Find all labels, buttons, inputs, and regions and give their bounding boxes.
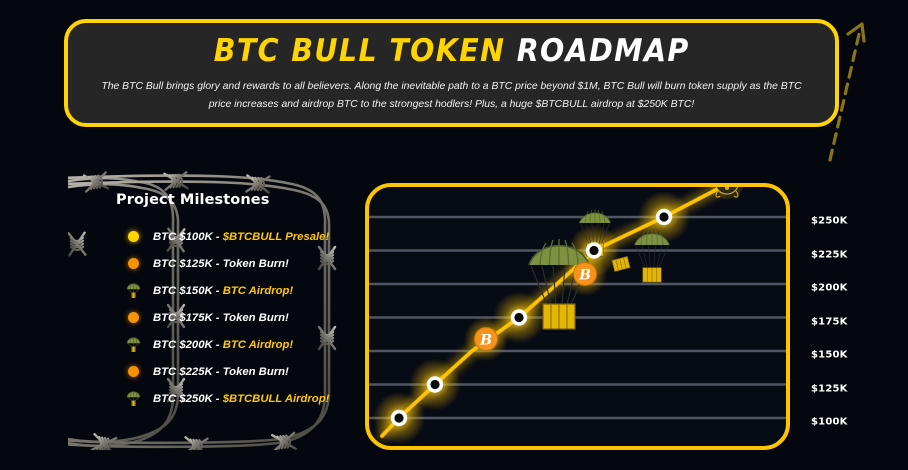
- list-item[interactable]: BTC $225K - Token Burn!: [125, 358, 331, 385]
- price-trajectory-chart: B B: [369, 187, 786, 446]
- milestones-heading: Project Milestones: [116, 192, 331, 208]
- roadmap-chart-panel: B B: [365, 183, 790, 450]
- header-panel: BTC BULL TOKEN ROADMAP The BTC Bull brin…: [64, 19, 839, 127]
- bullet-dot-icon: [125, 255, 142, 272]
- bullet-dot-icon: [125, 309, 142, 326]
- parachute-icon: [125, 336, 142, 353]
- milestone-label: BTC $225K - Token Burn!: [153, 366, 289, 378]
- bitcoin-coin-icon: B: [574, 263, 597, 286]
- bullet-dot-icon: [125, 363, 142, 380]
- milestone-price: BTC $150K -: [153, 285, 223, 297]
- milestone-event: $BTCBULL Airdrop!: [223, 393, 330, 405]
- milestone-event: $BTCBULL Presale!: [223, 231, 330, 243]
- axis-tick-200k: $200K: [811, 283, 848, 294]
- page-title: BTC BULL TOKEN ROADMAP: [214, 33, 690, 69]
- title-brand: BTC BULL TOKEN: [214, 33, 506, 69]
- bullet-dot-icon: [125, 228, 142, 245]
- title-roadmap: ROADMAP: [517, 33, 690, 69]
- header-description: The BTC Bull brings glory and rewards to…: [96, 78, 808, 112]
- milestone-label: BTC $175K - Token Burn!: [153, 312, 289, 324]
- svg-text:B: B: [578, 268, 591, 284]
- parachute-icon: [125, 282, 142, 299]
- list-item[interactable]: BTC $250K - $BTCBULL Airdrop!: [125, 385, 331, 412]
- milestone-price: BTC $250K -: [153, 393, 223, 405]
- list-item[interactable]: BTC $200K - BTC Airdrop!: [125, 331, 331, 358]
- milestone-label: BTC $200K - BTC Airdrop!: [153, 339, 293, 351]
- milestone-event: Token Burn!: [223, 312, 289, 324]
- airdrop-parachute-icon: [635, 230, 670, 282]
- milestone-price: BTC $175K -: [153, 312, 223, 324]
- list-item[interactable]: BTC $125K - Token Burn!: [125, 250, 331, 277]
- svg-text:B: B: [479, 333, 492, 349]
- milestone-price: BTC $100K -: [153, 231, 223, 243]
- milestone-event: BTC Airdrop!: [223, 285, 294, 297]
- milestone-label: BTC $100K - $BTCBULL Presale!: [153, 231, 329, 243]
- milestone-label: BTC $250K - $BTCBULL Airdrop!: [153, 393, 329, 405]
- bull-icon: [710, 187, 744, 199]
- milestone-price: BTC $200K -: [153, 339, 223, 351]
- parachute-icon: [125, 390, 142, 407]
- milestone-event: Token Burn!: [223, 258, 289, 270]
- milestone-label: BTC $125K - Token Burn!: [153, 258, 289, 270]
- milestone-event: BTC Airdrop!: [223, 339, 294, 351]
- milestone-event: Token Burn!: [223, 366, 289, 378]
- milestone-price: BTC $225K -: [153, 366, 223, 378]
- list-item[interactable]: BTC $150K - BTC Airdrop!: [125, 277, 331, 304]
- bitcoin-coin-icon: B: [475, 328, 498, 351]
- list-item[interactable]: BTC $175K - Token Burn!: [125, 304, 331, 331]
- axis-tick-100k: $100K: [811, 417, 848, 428]
- axis-tick-175k: $175K: [811, 316, 848, 327]
- project-milestones-panel: Project Milestones BTC $100K - $BTCBULL …: [68, 168, 340, 450]
- description-line-1: The BTC Bull brings glory and rewards to…: [101, 81, 778, 92]
- axis-tick-250k: $250K: [811, 216, 848, 227]
- price-axis: $250K $225K $200K $175K $150K $125K $100…: [805, 183, 885, 450]
- list-item[interactable]: BTC $100K - $BTCBULL Presale!: [125, 223, 331, 250]
- axis-tick-150k: $150K: [811, 350, 848, 361]
- milestone-label: BTC $150K - BTC Airdrop!: [153, 285, 293, 297]
- axis-tick-225k: $225K: [811, 249, 848, 260]
- axis-tick-125k: $125K: [811, 383, 848, 394]
- milestone-price: BTC $125K -: [153, 258, 223, 270]
